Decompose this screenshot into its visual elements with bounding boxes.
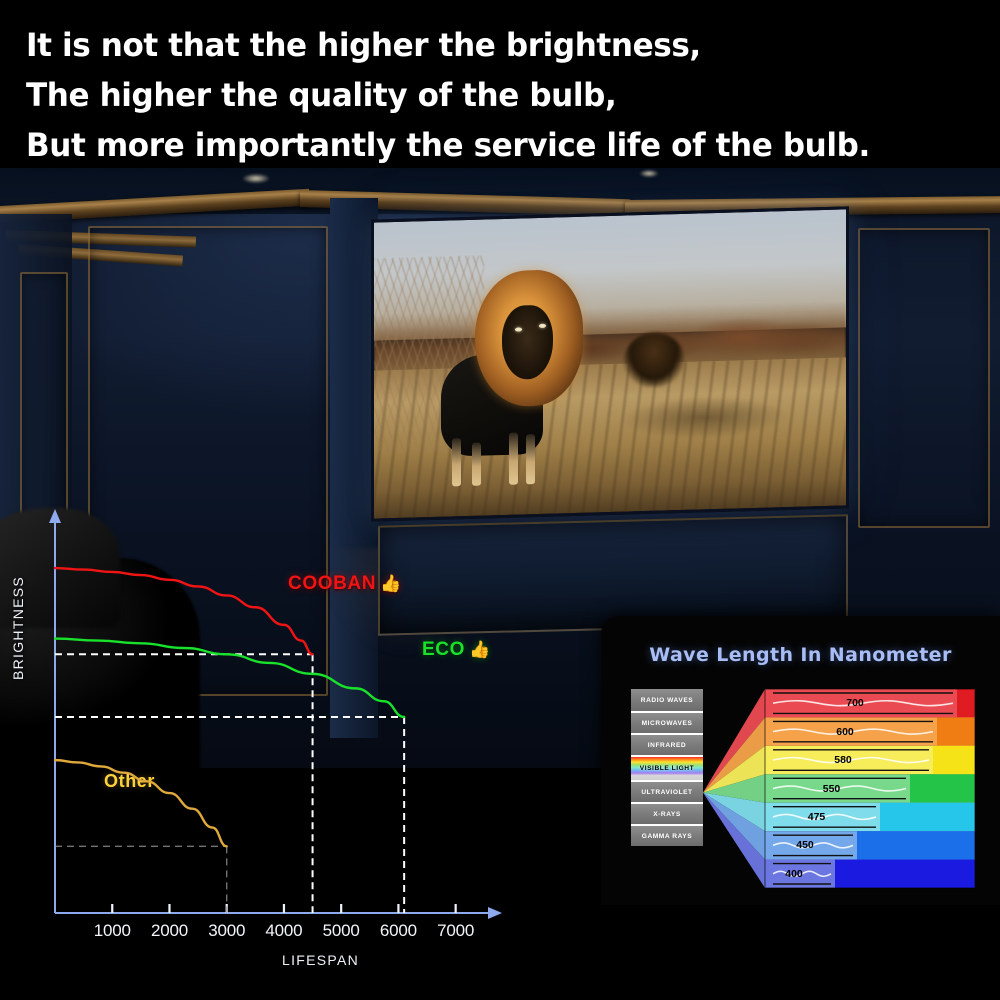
chart-canvas — [0, 505, 560, 1000]
ceiling-light — [640, 170, 658, 177]
brightness-lifespan-chart — [0, 505, 560, 1000]
lion-eye — [515, 327, 522, 331]
wavelength-label-450: 450 — [796, 839, 814, 851]
headline-line-2: The higher the quality of the bulb, — [26, 70, 953, 120]
spectrum-band-infrared: INFRARED — [631, 733, 703, 755]
wavelength-panel-title: Wave Length In Nanometer — [601, 644, 1000, 666]
spectrum-band-gamma-rays: GAMMA RAYS — [631, 824, 703, 846]
wavelength-label-700: 700 — [846, 697, 864, 709]
headline-line-3: But more importantly the service life of… — [26, 120, 953, 170]
wavelength-label-580: 580 — [834, 754, 852, 766]
wavelength-label-475: 475 — [808, 811, 826, 823]
spectrum-band-radio-waves: RADIO WAVES — [631, 689, 703, 711]
lion-leg — [509, 432, 518, 485]
spectrum-band-list: RADIO WAVESMICROWAVESINFRAREDVISIBLE LIG… — [631, 689, 703, 846]
spectrum-band-x-rays: X-RAYS — [631, 802, 703, 824]
wavelength-label-400: 400 — [785, 868, 803, 880]
spectrum-band-microwaves: MICROWAVES — [631, 711, 703, 733]
spectrum-band-visible-light: VISIBLE LIGHT — [631, 755, 703, 780]
headline-line-1: It is not that the higher the brightness… — [26, 20, 953, 70]
projected-image — [374, 209, 846, 518]
wall-panel-moulding — [858, 228, 990, 528]
lion-leg — [472, 442, 481, 486]
wavelength-label-550: 550 — [823, 783, 841, 795]
lion — [435, 264, 577, 487]
prism-dispersion-diagram — [703, 686, 993, 891]
lion-leg — [526, 434, 535, 485]
bush — [624, 332, 684, 388]
spectrum-band-ultraviolet: ULTRAVIOLET — [631, 780, 703, 802]
wavelength-panel: Wave Length In Nanometer RADIO WAVESMICR… — [601, 616, 1000, 905]
wavelength-label-600: 600 — [836, 726, 854, 738]
lion-leg — [452, 438, 461, 486]
ceiling-light — [243, 174, 269, 183]
screenshot-root: It is not that the higher the brightness… — [0, 0, 1000, 1000]
projector-screen — [371, 206, 849, 521]
headline: It is not that the higher the brightness… — [0, 0, 1000, 170]
